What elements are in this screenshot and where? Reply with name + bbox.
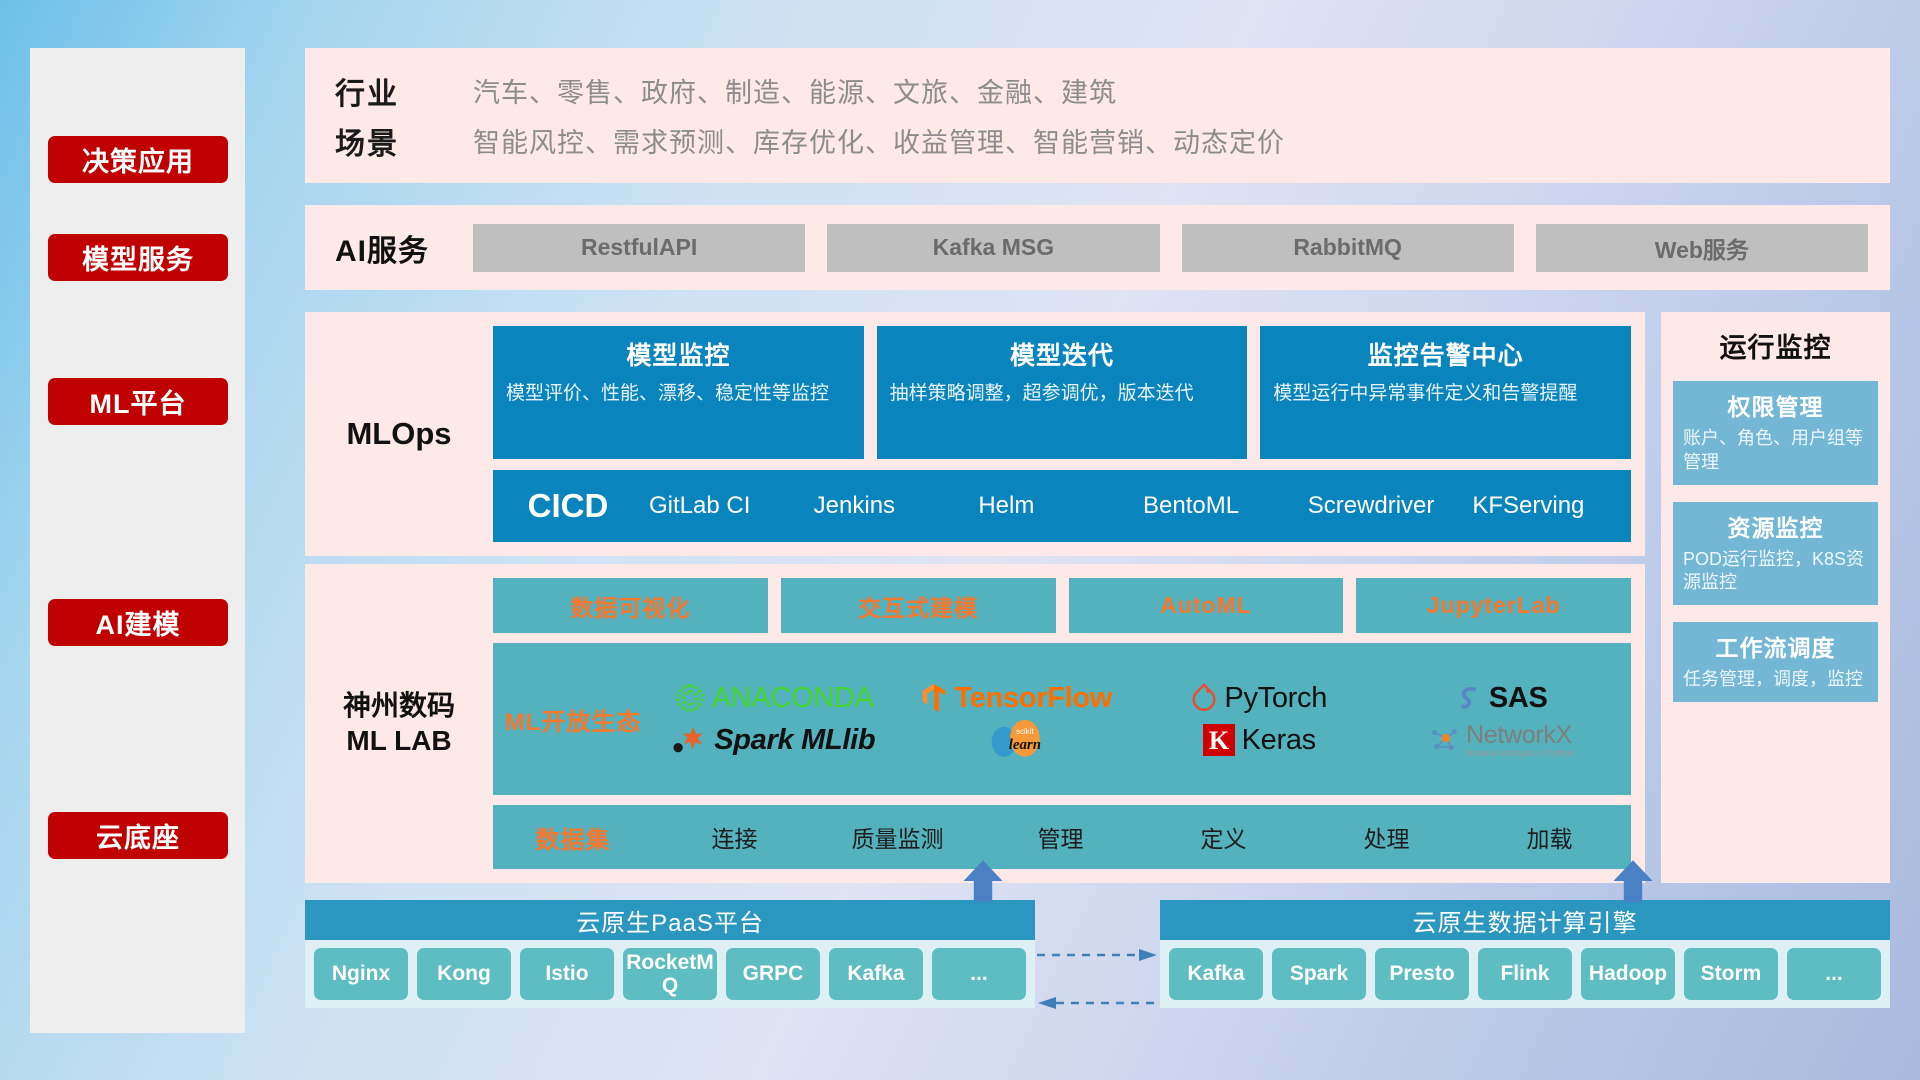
tensorflow-logo: TensorFlow: [921, 682, 1112, 715]
svg-text:scikit: scikit: [1016, 727, 1034, 736]
spark-mllib-logo: Spark MLlib: [673, 724, 875, 757]
ai-service-chip-web[interactable]: Web服务: [1536, 224, 1868, 272]
ml-lab-label: 神州数码 ML LAB: [305, 578, 493, 869]
card-desc: POD运行监控，K8S资源监控: [1683, 548, 1868, 596]
card-title: 工作流调度: [1683, 629, 1868, 663]
scenario-row: 场景 智能风控、需求预测、库存优化、收益管理、智能营销、动态定价: [335, 116, 1285, 166]
spark-icon: [673, 724, 707, 756]
sidebar-item-label: 模型服务: [82, 238, 194, 277]
paas-chip-rocketmq[interactable]: RocketMQ: [623, 948, 717, 1000]
networkx-logo: NetworkX Network Analysis in Python: [1429, 723, 1575, 758]
cicd-item-helm[interactable]: Helm: [972, 492, 1137, 520]
connector-arrow-right: [1035, 948, 1160, 962]
card-desc: 账户、角色、用户组等管理: [1683, 427, 1868, 475]
scikit-learn-icon: scikit learn: [986, 719, 1048, 761]
svg-text:learn: learn: [1009, 737, 1041, 753]
networkx-label: NetworkX: [1466, 723, 1575, 748]
tensorflow-icon: [921, 683, 947, 713]
card-title: 模型迭代: [890, 336, 1235, 372]
networkx-sublabel: Network Analysis in Python: [1466, 748, 1575, 758]
spark-mllib-label: Spark MLlib: [714, 724, 875, 757]
tensorflow-label: TensorFlow: [954, 682, 1112, 715]
cicd-item-gitlab-ci[interactable]: GitLab CI: [643, 492, 808, 520]
ai-modeling-band: 神州数码 ML LAB 数据可视化 交互式建模 AutoML JupyterLa…: [305, 564, 1645, 883]
engine-chip-kafka[interactable]: Kafka: [1169, 948, 1263, 1000]
sidebar-item-label: 决策应用: [82, 140, 194, 179]
sas-label: SAS: [1489, 682, 1548, 715]
dataset-item-manage[interactable]: 管理: [979, 820, 1142, 854]
ai-service-list: RestfulAPI Kafka MSG RabbitMQ Web服务: [473, 224, 1868, 272]
paas-panel: 云原生PaaS平台 Nginx Kong Istio RocketMQ GRPC…: [305, 900, 1035, 1008]
ml-platform-row: MLOps 模型监控 模型评价、性能、漂移、稳定性等监控 模型迭代 抽样策略调整…: [305, 312, 1890, 883]
card-title: 权限管理: [1683, 388, 1868, 422]
pytorch-logo: PyTorch: [1191, 682, 1327, 715]
pytorch-label: PyTorch: [1224, 682, 1327, 715]
card-title: 模型监控: [506, 336, 851, 372]
card-desc: 任务管理，调度，监控: [1683, 668, 1868, 692]
mlops-card-model-monitoring[interactable]: 模型监控 模型评价、性能、漂移、稳定性等监控: [493, 326, 864, 459]
monitor-card-workflow[interactable]: 工作流调度 任务管理，调度，监控: [1673, 622, 1878, 702]
sidebar-item-label: 云底座: [96, 816, 180, 855]
sas-icon: [1456, 683, 1482, 713]
connector-arrow-left: [1035, 996, 1160, 1010]
dataset-item-process[interactable]: 处理: [1305, 820, 1468, 854]
engine-chip-presto[interactable]: Presto: [1375, 948, 1469, 1000]
anaconda-icon: [675, 683, 705, 713]
sidebar-item-model-service[interactable]: 模型服务: [48, 234, 228, 281]
ai-service-chip-kafka-msg[interactable]: Kafka MSG: [827, 224, 1159, 272]
engine-up-arrow: [1610, 858, 1656, 904]
sidebar-item-ml-platform[interactable]: ML平台: [48, 378, 228, 425]
paas-up-arrow: [960, 858, 1006, 904]
scenario-value: 智能风控、需求预测、库存优化、收益管理、智能营销、动态定价: [473, 121, 1285, 160]
card-title: 监控告警中心: [1273, 336, 1618, 372]
monitor-card-resource[interactable]: 资源监控 POD运行监控，K8S资源监控: [1673, 502, 1878, 606]
tab-interactive-modeling[interactable]: 交互式建模: [781, 578, 1056, 633]
architecture-main: 行业 汽车、零售、政府、制造、能源、文旅、金融、建筑 场景 智能风控、需求预测、…: [305, 48, 1890, 883]
engine-chip-spark[interactable]: Spark: [1272, 948, 1366, 1000]
paas-chip-kong[interactable]: Kong: [417, 948, 511, 1000]
dataset-item-load[interactable]: 加载: [1468, 820, 1631, 854]
industry-row: 行业 汽车、零售、政府、制造、能源、文旅、金融、建筑: [335, 66, 1285, 116]
paas-title: 云原生PaaS平台: [305, 900, 1035, 940]
cicd-label: CICD: [493, 487, 643, 525]
card-desc: 模型运行中异常事件定义和告警提醒: [1273, 381, 1618, 406]
sidebar-item-decision-apps[interactable]: 决策应用: [48, 136, 228, 183]
sas-logo: SAS: [1456, 682, 1548, 715]
mlops-card-alert-center[interactable]: 监控告警中心 模型运行中异常事件定义和告警提醒: [1260, 326, 1631, 459]
dataset-item-connect[interactable]: 连接: [653, 820, 816, 854]
runtime-monitor-title: 运行监控: [1673, 326, 1878, 365]
engine-chip-list: Kafka Spark Presto Flink Hadoop Storm ..…: [1160, 940, 1890, 1008]
ml-ecosystem-row: ML开放生态 ANACONDA: [493, 643, 1631, 795]
compute-engine-title: 云原生数据计算引擎: [1160, 900, 1890, 940]
sidebar-item-cloud-base[interactable]: 云底座: [48, 812, 228, 859]
mlops-card-model-iteration[interactable]: 模型迭代 抽样策略调整，超参调优，版本迭代: [877, 326, 1248, 459]
card-desc: 模型评价、性能、漂移、稳定性等监控: [506, 381, 851, 406]
cicd-item-list: GitLab CI Jenkins Helm BentoML Screwdriv…: [643, 492, 1631, 520]
paas-chip-istio[interactable]: Istio: [520, 948, 614, 1000]
scikit-learn-logo: scikit learn: [986, 719, 1048, 761]
svg-text:K: K: [1208, 726, 1229, 755]
paas-chip-list: Nginx Kong Istio RocketMQ GRPC Kafka ...: [305, 940, 1035, 1008]
sidebar-item-label: AI建模: [96, 603, 181, 642]
scenario-key: 场景: [335, 119, 473, 163]
engine-chip-flink[interactable]: Flink: [1478, 948, 1572, 1000]
ai-service-chip-restfulapi[interactable]: RestfulAPI: [473, 224, 805, 272]
cicd-row: CICD GitLab CI Jenkins Helm BentoML Scre…: [493, 470, 1631, 542]
paas-chip-nginx[interactable]: Nginx: [314, 948, 408, 1000]
ai-service-band: AI服务 RestfulAPI Kafka MSG RabbitMQ Web服务: [305, 205, 1890, 290]
engine-chip-more[interactable]: ...: [1787, 948, 1881, 1000]
cloud-base-row: 云原生PaaS平台 Nginx Kong Istio RocketMQ GRPC…: [305, 900, 1890, 1035]
dataset-label: 数据集: [493, 820, 653, 855]
pytorch-icon: [1191, 683, 1217, 713]
paas-chip-more[interactable]: ...: [932, 948, 1026, 1000]
ml-ecosystem-label: ML开放生态: [493, 702, 653, 737]
ml-ecosystem-logos: ANACONDA TensorFlow: [653, 677, 1631, 761]
monitor-card-permission[interactable]: 权限管理 账户、角色、用户组等管理: [1673, 381, 1878, 485]
anaconda-logo: ANACONDA: [675, 682, 874, 715]
cicd-item-kfserving[interactable]: KFServing: [1466, 492, 1631, 520]
runtime-monitor-panel: 运行监控 权限管理 账户、角色、用户组等管理 资源监控 POD运行监控，K8S资…: [1661, 312, 1890, 883]
decision-apps-band: 行业 汽车、零售、政府、制造、能源、文旅、金融、建筑 场景 智能风控、需求预测、…: [305, 48, 1890, 183]
engine-chip-storm[interactable]: Storm: [1684, 948, 1778, 1000]
tab-jupyterlab[interactable]: JupyterLab: [1356, 578, 1631, 633]
tab-data-visualization[interactable]: 数据可视化: [493, 578, 768, 633]
ml-lab-label-line1: 神州数码: [343, 689, 455, 723]
sidebar-item-label: ML平台: [90, 382, 187, 421]
mlops-label: MLOps: [305, 326, 493, 542]
compute-engine-panel: 云原生数据计算引擎 Kafka Spark Presto Flink Hadoo…: [1160, 900, 1890, 1008]
paas-chip-grpc[interactable]: GRPC: [726, 948, 820, 1000]
dataset-item-define[interactable]: 定义: [1142, 820, 1305, 854]
ml-lab-label-line2: ML LAB: [346, 724, 451, 758]
networkx-icon: [1429, 725, 1459, 755]
card-desc: 抽样策略调整，超参调优，版本迭代: [890, 381, 1235, 406]
engine-chip-hadoop[interactable]: Hadoop: [1581, 948, 1675, 1000]
mlops-band: MLOps 模型监控 模型评价、性能、漂移、稳定性等监控 模型迭代 抽样策略调整…: [305, 312, 1645, 556]
dataset-row: 数据集 连接 质量监测 管理 定义 处理 加载: [493, 805, 1631, 869]
sidebar-item-ai-modeling[interactable]: AI建模: [48, 599, 228, 646]
layer-label-sidebar: 决策应用 模型服务 ML平台 AI建模 云底座: [30, 48, 245, 1033]
paas-chip-kafka[interactable]: Kafka: [829, 948, 923, 1000]
keras-label: Keras: [1242, 724, 1316, 757]
cicd-item-jenkins[interactable]: Jenkins: [808, 492, 973, 520]
mlops-card-row: 模型监控 模型评价、性能、漂移、稳定性等监控 模型迭代 抽样策略调整，超参调优，…: [493, 326, 1631, 459]
industry-value: 汽车、零售、政府、制造、能源、文旅、金融、建筑: [473, 71, 1117, 110]
ai-service-chip-rabbitmq[interactable]: RabbitMQ: [1182, 224, 1514, 272]
ai-service-label: AI服务: [335, 226, 473, 270]
tab-automl[interactable]: AutoML: [1069, 578, 1344, 633]
modeling-tab-row: 数据可视化 交互式建模 AutoML JupyterLab: [493, 578, 1631, 633]
dataset-item-quality[interactable]: 质量监测: [816, 820, 979, 854]
cicd-item-screwdriver[interactable]: Screwdriver: [1302, 492, 1467, 520]
keras-logo: K Keras: [1203, 724, 1316, 757]
card-title: 资源监控: [1683, 509, 1868, 543]
dataset-item-list: 连接 质量监测 管理 定义 处理 加载: [653, 820, 1631, 854]
industry-key: 行业: [335, 69, 473, 113]
anaconda-label: ANACONDA: [712, 682, 874, 715]
cicd-item-bentoml[interactable]: BentoML: [1137, 492, 1302, 520]
keras-icon: K: [1203, 724, 1235, 756]
